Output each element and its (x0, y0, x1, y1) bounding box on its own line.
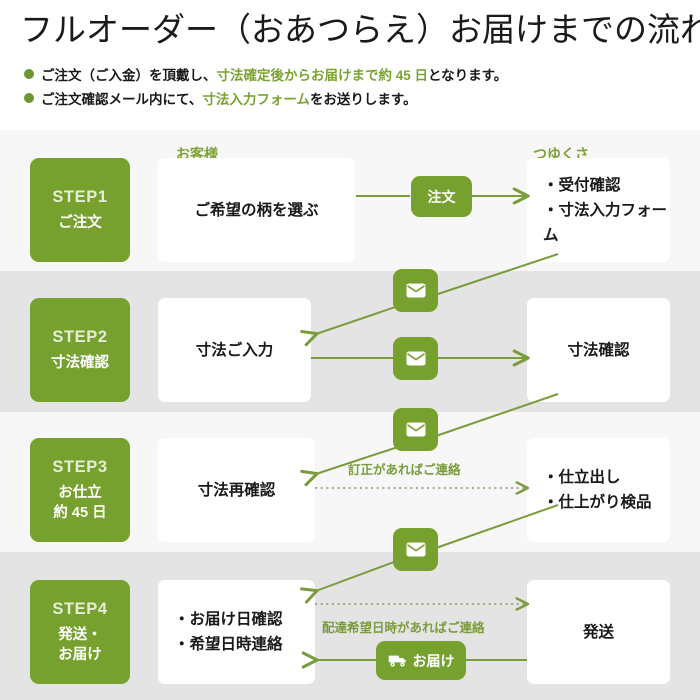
step-3-label-line-1: お仕立 (53, 483, 106, 503)
flow-diagram: フルオーダー（おあつらえ）お届けまでの流れ ご注文（ご入金）を頂戴し、寸法確定後… (0, 0, 700, 700)
step-badge-2: STEP2 寸法確認 (30, 298, 130, 402)
truck-icon (388, 654, 408, 668)
customer-card-step2: 寸法ご入力 (158, 298, 311, 402)
page-title: フルオーダー（おあつらえ）お届けまでの流れ (20, 8, 685, 54)
bullet-1-post: となります。 (428, 68, 507, 83)
mail-icon-badge-1 (393, 269, 438, 312)
step-4-label-line-2: お届け (58, 645, 102, 665)
step-badge-4: STEP4 発送・ お届け (30, 580, 130, 684)
step-1-label: ご注文 (58, 213, 102, 233)
step-3-label: お仕立 約 45 日 (53, 483, 106, 523)
bullet-2-post: をお送りします。 (310, 92, 417, 107)
customer-card-step1: ご希望の柄を選ぶ (158, 158, 355, 262)
envelope-icon (406, 422, 426, 437)
customer-card-step2-text: 寸法ご入力 (196, 338, 274, 363)
connector-pill-order: 注文 (411, 176, 472, 217)
step-2-number: STEP2 (52, 328, 107, 347)
shop-card-step3-line-1: ・仕立出し (543, 465, 652, 490)
shop-card-step2: 寸法確認 (527, 298, 670, 402)
customer-card-step3: 寸法再確認 (158, 438, 315, 542)
shop-card-step1-line-1: ・受付確認 (543, 173, 670, 198)
step-3-label-line-2: 約 45 日 (53, 503, 106, 523)
bullet-2-pre: ご注文確認メール内にて、 (41, 92, 202, 107)
customer-card-step1-text: ご希望の柄を選ぶ (194, 198, 318, 223)
customer-card-step3-text: 寸法再確認 (198, 478, 276, 503)
shop-card-step3-line-2: ・仕上がり検品 (543, 490, 652, 515)
connector-pill-delivery-label: お届け (413, 651, 455, 671)
step-4-label: 発送・ お届け (58, 625, 102, 665)
envelope-icon (406, 283, 426, 298)
connector-pill-delivery: お届け (376, 641, 466, 680)
bullet-1-pre: ご注文（ご入金）を頂戴し、 (41, 68, 217, 83)
mail-icon-badge-4 (393, 528, 438, 571)
header-bullet-1: ご注文（ご入金）を頂戴し、寸法確定後からお届けまで約 45 日となります。 (24, 67, 507, 85)
step-4-label-line-1: 発送・ (58, 625, 102, 645)
customer-card-step4-line-1: ・お届け日確認 (174, 607, 283, 632)
bullet-dot-icon (24, 93, 34, 103)
mail-icon-badge-2 (393, 337, 438, 380)
shop-card-step4: 発送 (527, 580, 670, 684)
shop-card-step1: ・受付確認 ・寸法入力フォーム (527, 158, 670, 262)
shop-card-step4-text: 発送 (583, 620, 614, 645)
step-2-label: 寸法確認 (51, 353, 109, 373)
header: フルオーダー（おあつらえ）お届けまでの流れ ご注文（ご入金）を頂戴し、寸法確定後… (0, 0, 700, 130)
mail-icon-badge-3 (393, 408, 438, 451)
bullet-1-highlight: 寸法確定後からお届けまで約 45 日 (217, 68, 429, 83)
arrow-note-step4: 配達希望日時があればご連絡 (322, 617, 485, 636)
shop-card-step3: ・仕立出し ・仕上がり検品 (527, 438, 670, 542)
arrow-note-step3: 訂正があればご連絡 (348, 459, 461, 478)
step-4-number: STEP4 (52, 600, 107, 619)
shop-card-step1-line-2: ・寸法入力フォーム (543, 198, 670, 248)
bullet-2-highlight: 寸法入力フォーム (202, 92, 310, 107)
step-1-number: STEP1 (52, 188, 107, 207)
shop-card-step2-text: 寸法確認 (567, 338, 629, 363)
customer-card-step4: ・お届け日確認 ・希望日時連絡 (158, 580, 315, 684)
envelope-icon (406, 351, 426, 366)
connector-pill-order-label: 注文 (428, 187, 456, 207)
step-badge-3: STEP3 お仕立 約 45 日 (30, 438, 130, 542)
bullet-dot-icon (24, 69, 34, 79)
step-3-number: STEP3 (52, 458, 107, 477)
header-bullet-2: ご注文確認メール内にて、寸法入力フォームをお送りします。 (24, 91, 417, 109)
customer-card-step4-line-2: ・希望日時連絡 (174, 632, 283, 657)
step-badge-1: STEP1 ご注文 (30, 158, 130, 262)
envelope-icon (406, 542, 426, 557)
